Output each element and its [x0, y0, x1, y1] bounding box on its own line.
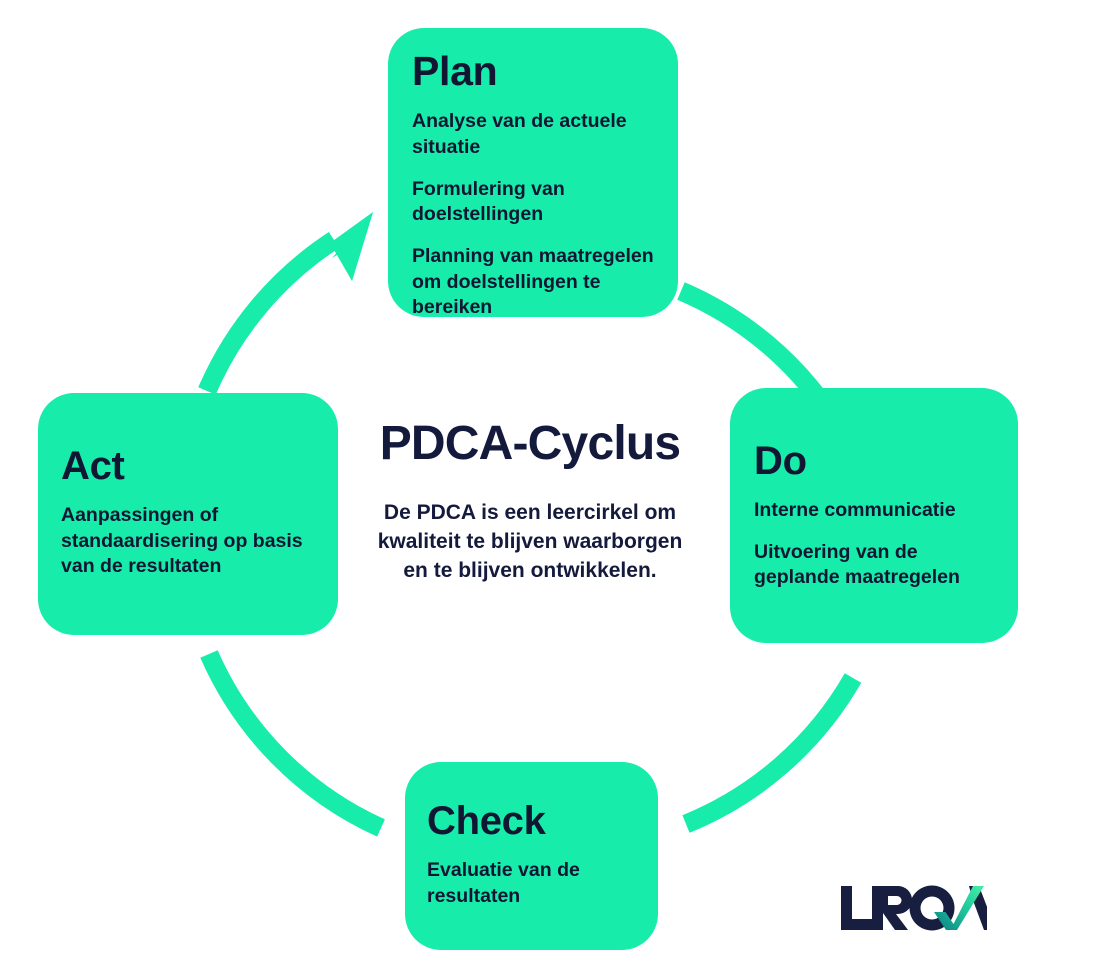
phase-item: Analyse van de actuele situatie [412, 109, 654, 160]
phase-title-plan: Plan [412, 50, 654, 93]
lrqa-logo [841, 884, 987, 932]
phase-list-check: Evaluatie van de resultaten [427, 858, 638, 909]
lrqa-logo-icon [841, 884, 987, 932]
phase-box-check[interactable]: Check Evaluatie van de resultaten [405, 762, 658, 950]
phase-box-plan[interactable]: Plan Analyse van de actuele situatie For… [388, 28, 678, 317]
phase-box-do[interactable]: Do Interne communicatie Uitvoering van d… [730, 388, 1018, 643]
arc-act-to-plan [207, 240, 334, 391]
phase-item: Aanpassingen of standaardisering op basi… [61, 503, 316, 580]
phase-title-check: Check [427, 800, 638, 842]
phase-list-plan: Analyse van de actuele situatie Formuler… [412, 109, 654, 321]
phase-title-act: Act [61, 445, 316, 487]
center-block: PDCA-Cyclus De PDCA is een leercirkel om… [350, 418, 710, 586]
phase-list-act: Aanpassingen of standaardisering op basi… [61, 503, 316, 580]
arc-check-to-act [209, 654, 381, 828]
phase-box-act[interactable]: Act Aanpassingen of standaardisering op … [38, 393, 338, 635]
phase-item: Interne communicatie [754, 498, 996, 524]
diagram-title: PDCA-Cyclus [350, 418, 710, 471]
phase-list-do: Interne communicatie Uitvoering van de g… [754, 498, 996, 591]
pdca-diagram: Plan Analyse van de actuele situatie For… [0, 0, 1108, 977]
arrowhead-neck [330, 212, 373, 281]
phase-item: Planning van maat­regelen om doel­stelli… [412, 244, 654, 321]
phase-title-do: Do [754, 440, 996, 482]
phase-item: Formulering van doelstellingen [412, 177, 654, 228]
arc-do-to-check [686, 678, 853, 824]
phase-item: Uitvoering van de geplande maatregelen [754, 540, 996, 591]
diagram-description: De PDCA is een leercirkel om kwaliteit t… [350, 499, 710, 586]
phase-item: Evaluatie van de resultaten [427, 858, 638, 909]
